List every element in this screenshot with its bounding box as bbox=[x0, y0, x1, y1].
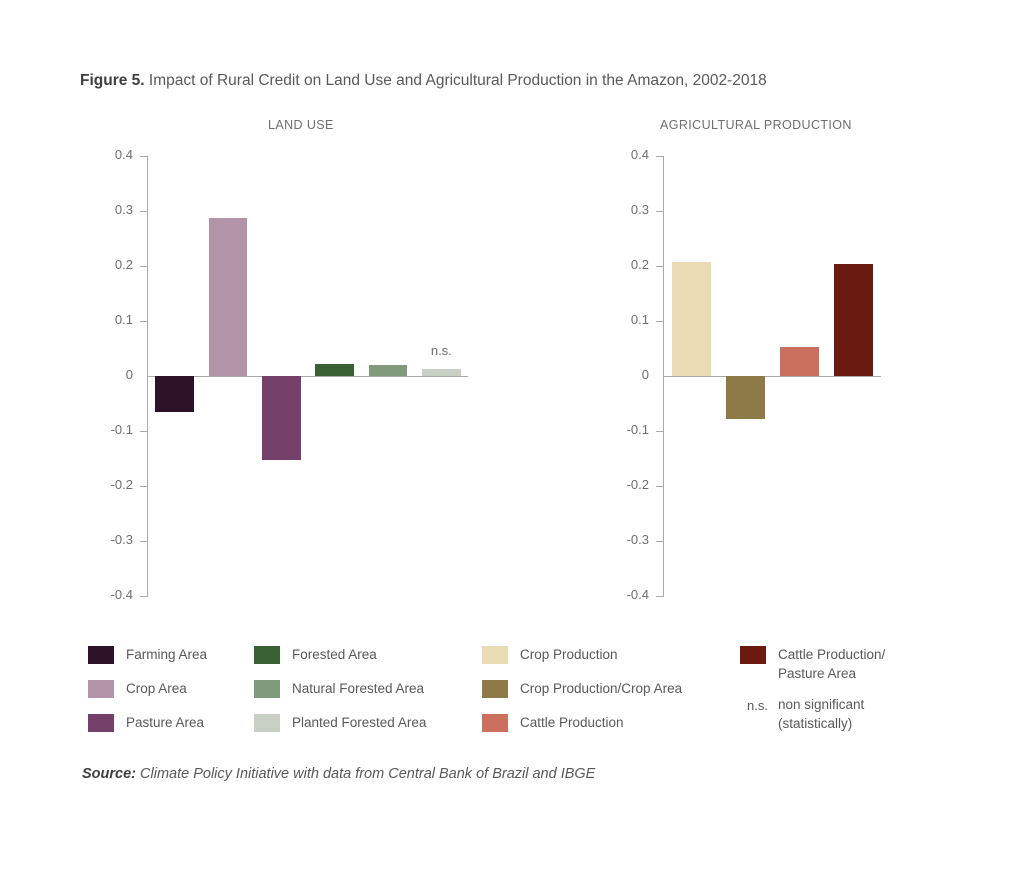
legend-item[interactable]: Crop Production bbox=[482, 645, 727, 667]
bar-slot bbox=[262, 156, 300, 596]
y-tick: 0 bbox=[656, 376, 664, 377]
source-note: Source: Climate Policy Initiative with d… bbox=[82, 766, 595, 782]
y-tick: -0.4 bbox=[140, 596, 148, 597]
legend-item[interactable]: Crop Production/Crop Area bbox=[482, 679, 727, 701]
legend-column: Crop ProductionCrop Production/Crop Area… bbox=[482, 645, 727, 747]
source-text: Climate Policy Initiative with data from… bbox=[140, 766, 595, 782]
panel-title-land-use: LAND USE bbox=[96, 118, 471, 136]
bar-group-agricultural-production bbox=[664, 156, 881, 596]
y-tick-label: 0.1 bbox=[115, 312, 133, 327]
legend-column: Cattle Production/Pasture Arean.s.non si… bbox=[740, 645, 935, 745]
chart-legend: Farming AreaCrop AreaPasture Area Forest… bbox=[88, 645, 933, 740]
y-tick-label: 0.4 bbox=[631, 147, 649, 162]
y-tick: -0.1 bbox=[140, 431, 148, 432]
bar[interactable] bbox=[155, 376, 193, 412]
legend-swatch-icon bbox=[254, 646, 280, 664]
legend-label: Cattle Production/Pasture Area bbox=[778, 645, 935, 683]
legend-label: Farming Area bbox=[126, 645, 248, 664]
y-tick: 0.2 bbox=[140, 266, 148, 267]
legend-swatch-icon bbox=[482, 680, 508, 698]
bar[interactable] bbox=[780, 347, 819, 376]
y-tick-label: 0 bbox=[642, 367, 649, 382]
legend-swatch-icon bbox=[254, 714, 280, 732]
y-tick: 0.4 bbox=[140, 156, 148, 157]
legend-column: Forested AreaNatural Forested AreaPlante… bbox=[254, 645, 479, 747]
bar[interactable] bbox=[209, 218, 247, 376]
bar-slot bbox=[155, 156, 193, 596]
y-tick-label: -0.1 bbox=[111, 422, 133, 437]
y-tick: 0.1 bbox=[656, 321, 664, 322]
y-tick: 0.4 bbox=[656, 156, 664, 157]
y-tick-label: 0.2 bbox=[631, 257, 649, 272]
source-label: Source: bbox=[82, 766, 136, 782]
panel-title-agricultural-production: AGRICULTURAL PRODUCTION bbox=[612, 118, 882, 136]
y-tick: -0.4 bbox=[656, 596, 664, 597]
bar-slot bbox=[834, 156, 873, 596]
bar[interactable] bbox=[262, 376, 300, 460]
bar-slot bbox=[672, 156, 711, 596]
bar[interactable] bbox=[315, 364, 353, 376]
legend-item[interactable]: n.s.non significant(statistically) bbox=[740, 695, 935, 733]
bar-slot bbox=[726, 156, 765, 596]
chart-panel-land-use: LAND USE 0.40.30.20.10-0.1-0.2-0.3-0.4 n… bbox=[96, 118, 471, 596]
y-tick: -0.2 bbox=[140, 486, 148, 487]
figure-title: Figure 5. Impact of Rural Credit on Land… bbox=[80, 72, 767, 90]
bar[interactable] bbox=[422, 369, 460, 376]
legend-label: Forested Area bbox=[292, 645, 479, 664]
legend-swatch-icon bbox=[88, 714, 114, 732]
legend-label: non significant(statistically) bbox=[778, 695, 935, 733]
legend-column: Farming AreaCrop AreaPasture Area bbox=[88, 645, 248, 747]
y-tick: -0.2 bbox=[656, 486, 664, 487]
y-tick-label: 0.4 bbox=[115, 147, 133, 162]
bar[interactable] bbox=[726, 376, 765, 419]
y-tick-label: -0.4 bbox=[627, 587, 649, 602]
legend-item[interactable]: Forested Area bbox=[254, 645, 479, 667]
y-tick: 0.3 bbox=[656, 211, 664, 212]
legend-label: Cattle Production bbox=[520, 713, 727, 732]
bar-slot bbox=[209, 156, 247, 596]
plot-area-land-use: 0.40.30.20.10-0.1-0.2-0.3-0.4 n.s. bbox=[96, 156, 471, 596]
non-significant-annotation: n.s. bbox=[431, 343, 452, 358]
y-tick-label: -0.4 bbox=[111, 587, 133, 602]
bar-slot bbox=[315, 156, 353, 596]
y-tick-label: -0.3 bbox=[627, 532, 649, 547]
bar-slot bbox=[422, 156, 460, 596]
y-tick-label: 0.3 bbox=[115, 202, 133, 217]
bar-slot bbox=[780, 156, 819, 596]
figure-number: Figure 5. bbox=[80, 72, 145, 89]
y-tick: -0.3 bbox=[140, 541, 148, 542]
y-tick-label: 0.2 bbox=[115, 257, 133, 272]
y-tick: 0.3 bbox=[140, 211, 148, 212]
y-tick: -0.1 bbox=[656, 431, 664, 432]
legend-item[interactable]: Pasture Area bbox=[88, 713, 248, 735]
y-tick-label: -0.2 bbox=[627, 477, 649, 492]
legend-item[interactable]: Farming Area bbox=[88, 645, 248, 667]
legend-label: Planted Forested Area bbox=[292, 713, 479, 732]
legend-abbreviation: n.s. bbox=[740, 696, 768, 715]
legend-item[interactable]: Planted Forested Area bbox=[254, 713, 479, 735]
y-tick-label: -0.2 bbox=[111, 477, 133, 492]
legend-swatch-icon bbox=[740, 646, 766, 664]
legend-swatch-icon bbox=[254, 680, 280, 698]
y-tick: -0.3 bbox=[656, 541, 664, 542]
legend-swatch-icon bbox=[482, 714, 508, 732]
legend-label: Crop Production/Crop Area bbox=[520, 679, 727, 698]
legend-item[interactable]: Crop Area bbox=[88, 679, 248, 701]
legend-label: Natural Forested Area bbox=[292, 679, 479, 698]
y-tick-label: -0.3 bbox=[111, 532, 133, 547]
y-tick: 0.2 bbox=[656, 266, 664, 267]
legend-swatch-icon bbox=[88, 646, 114, 664]
bar[interactable] bbox=[369, 365, 407, 376]
legend-item[interactable]: Cattle Production bbox=[482, 713, 727, 735]
y-tick-label: 0.3 bbox=[631, 202, 649, 217]
y-tick-label: 0 bbox=[126, 367, 133, 382]
y-tick-label: -0.1 bbox=[627, 422, 649, 437]
bar-slot bbox=[369, 156, 407, 596]
y-tick: 0.1 bbox=[140, 321, 148, 322]
bar[interactable] bbox=[834, 264, 873, 376]
y-tick: 0 bbox=[140, 376, 148, 377]
chart-panel-agricultural-production: AGRICULTURAL PRODUCTION 0.40.30.20.10-0.… bbox=[612, 118, 882, 596]
plot-area-agricultural-production: 0.40.30.20.10-0.1-0.2-0.3-0.4 bbox=[612, 156, 882, 596]
legend-label: Crop Production bbox=[520, 645, 727, 664]
legend-swatch-icon bbox=[482, 646, 508, 664]
legend-item[interactable]: Natural Forested Area bbox=[254, 679, 479, 701]
figure-title-text: Impact of Rural Credit on Land Use and A… bbox=[149, 72, 767, 89]
bar-group-land-use: n.s. bbox=[148, 156, 468, 596]
legend-label: Crop Area bbox=[126, 679, 248, 698]
legend-item[interactable]: Cattle Production/Pasture Area bbox=[740, 645, 935, 683]
legend-swatch-icon bbox=[88, 680, 114, 698]
legend-label: Pasture Area bbox=[126, 713, 248, 732]
y-tick-label: 0.1 bbox=[631, 312, 649, 327]
bar[interactable] bbox=[672, 262, 711, 376]
